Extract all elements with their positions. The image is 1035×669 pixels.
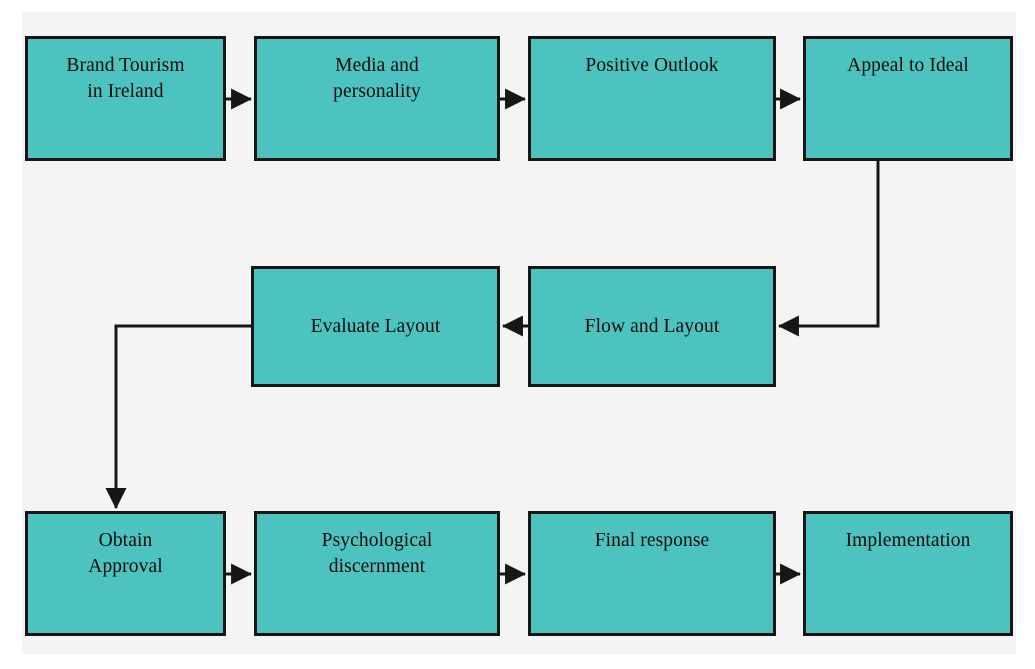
node-label: Psychological discernment <box>322 528 433 580</box>
node-final-response[interactable]: Final response <box>528 511 776 636</box>
node-label: Evaluate Layout <box>311 314 441 340</box>
node-label: Positive Outlook <box>585 53 718 79</box>
flowchart-diagram: Brand Tourism in Ireland Media and perso… <box>0 0 1035 669</box>
node-implementation[interactable]: Implementation <box>803 511 1013 636</box>
node-label: Media and personality <box>333 53 421 105</box>
node-label: Final response <box>595 528 710 554</box>
node-psychological-discernment[interactable]: Psychological discernment <box>254 511 500 636</box>
node-positive-outlook[interactable]: Positive Outlook <box>528 36 776 161</box>
node-label: Flow and Layout <box>585 314 720 340</box>
edge-appeal-to-flow-and-layout <box>779 161 878 326</box>
node-appeal-to-ideal[interactable]: Appeal to Ideal <box>803 36 1013 161</box>
node-label: Appeal to Ideal <box>847 53 969 79</box>
node-evaluate-layout[interactable]: Evaluate Layout <box>251 266 500 387</box>
node-label: Brand Tourism in Ireland <box>66 53 184 105</box>
node-label: Obtain Approval <box>88 528 162 580</box>
node-brand-tourism-in-ireland[interactable]: Brand Tourism in Ireland <box>25 36 226 161</box>
edge-evaluate-layout-to-obtain-approval <box>116 326 251 508</box>
node-label: Implementation <box>846 528 971 554</box>
node-media-and-personality[interactable]: Media and personality <box>254 36 500 161</box>
node-flow-and-layout[interactable]: Flow and Layout <box>528 266 776 387</box>
node-obtain-approval[interactable]: Obtain Approval <box>25 511 226 636</box>
